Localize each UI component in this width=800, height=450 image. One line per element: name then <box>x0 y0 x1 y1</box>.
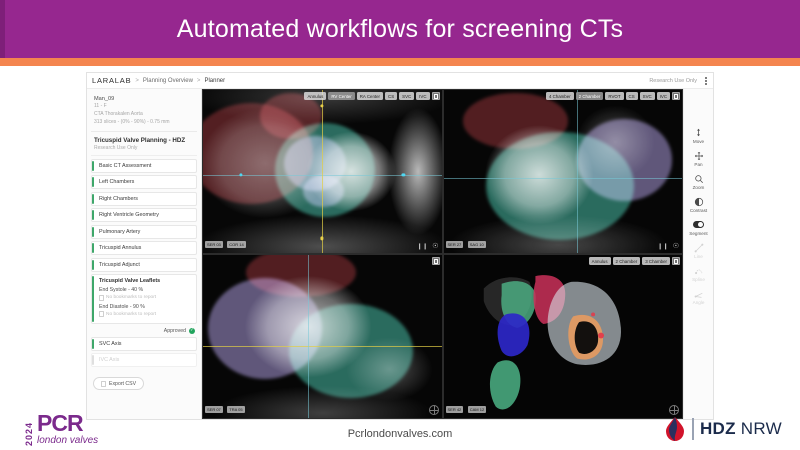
globe-icon[interactable] <box>669 405 679 415</box>
plan-title: Tricuspid Valve Planning - HDZ <box>94 137 194 144</box>
pan-icon <box>693 150 704 161</box>
app-body: Man_09 11 - F CTA Thorakalen Aorta 313 s… <box>87 89 713 419</box>
sidebar-item-basic-ct-assessment[interactable]: Basic CT Assessment <box>91 159 197 173</box>
check-circle-icon: ✓ <box>189 328 195 334</box>
viewport-tags-long-axis: SER 27 SAG 10 <box>446 233 486 251</box>
orientation-tag: COR 14 <box>227 241 245 247</box>
chip-ivc[interactable]: IVC <box>657 92 670 99</box>
breadcrumb-separator-1: > <box>135 78 139 84</box>
breadcrumb-separator-2: > <box>197 78 201 84</box>
brand-logo[interactable]: LARALAB <box>92 76 131 85</box>
tool-label: Pan <box>694 162 702 167</box>
move-icon <box>693 127 704 138</box>
viewport-controls-three-d <box>669 405 679 415</box>
chip-3-chamber[interactable]: 3 Chamber <box>642 257 670 264</box>
toggle-on-icon <box>693 219 704 230</box>
chip-ivc[interactable]: IVC <box>416 92 429 99</box>
hdz-divider <box>692 418 694 440</box>
crosshair-vertical[interactable] <box>322 90 323 253</box>
sidebar-item-ivc-axis[interactable]: IVC Axis <box>91 353 197 367</box>
layout-icon[interactable] <box>432 257 440 265</box>
chip-cs[interactable]: CS <box>385 92 397 99</box>
tool-label: Contrast <box>690 208 707 213</box>
tool-label: Move <box>693 139 704 144</box>
chip-rv-center[interactable]: RV Center <box>328 92 354 99</box>
banner-edge-accent <box>0 0 5 58</box>
layout-icon[interactable] <box>672 257 680 265</box>
series-tag: SER 07 <box>205 406 223 412</box>
viewport-controls-oblique <box>429 405 439 415</box>
plan-subtitle: Research Use Only <box>94 145 194 151</box>
accent-stripe <box>0 58 800 66</box>
application-window: LARALAB > Planning Overview > Planner Re… <box>86 72 714 420</box>
tool-spline[interactable]: Spline <box>684 265 713 282</box>
orientation-tag: SAG 10 <box>468 241 486 247</box>
export-csv-icon <box>101 381 106 387</box>
approved-status: Approved ✓ <box>91 327 197 337</box>
pause-icon[interactable]: ❙❙ <box>417 243 428 250</box>
crosshair-horizontal[interactable] <box>444 178 683 179</box>
chip-svc[interactable]: SVC <box>399 92 414 99</box>
tool-angle[interactable]: Angle <box>684 288 713 305</box>
tool-rail: Move Pan <box>683 89 713 419</box>
export-csv-button[interactable]: Export CSV <box>93 377 144 390</box>
tool-pan[interactable]: Pan <box>684 150 713 167</box>
sidebar-group-tricuspid-valve-leaflets[interactable]: Tricuspid Valve Leaflets End Systole - 4… <box>91 274 197 324</box>
three-d-render <box>444 255 683 418</box>
sidebar-item-right-ventricle-geometry[interactable]: Right Ventricle Geometry <box>91 208 197 222</box>
viewport-grid: Annulus RV Center RA Center CS SVC IVC S… <box>202 89 683 419</box>
chip-4-chamber[interactable]: 4 Chamber <box>546 92 574 99</box>
sidebar-item-tricuspid-annulus[interactable]: Tricuspid Annulus <box>91 241 197 255</box>
tool-label: Line <box>694 254 703 259</box>
phase-label: End Diastole - 90 % <box>99 304 192 310</box>
chip-ra-center[interactable]: RA Center <box>357 92 383 99</box>
line-icon <box>693 242 704 253</box>
tool-zoom[interactable]: Zoom <box>684 173 713 190</box>
status-badge: Approved <box>164 328 186 334</box>
zoom-icon <box>693 173 704 184</box>
viewport-tags-short-axis: SER 03 COR 14 <box>205 233 246 251</box>
workflow-steps: Basic CT Assessment Left Chambers Right … <box>91 156 197 419</box>
app-topbar: LARALAB > Planning Overview > Planner Re… <box>87 73 713 89</box>
research-use-only-label: Research Use Only <box>649 78 697 84</box>
viewport-tags-oblique: SER 07 TRA 05 <box>205 398 245 416</box>
sidebar-item-svc-axis[interactable]: SVC Axis <box>91 337 197 351</box>
spline-icon <box>693 265 704 276</box>
layout-icon[interactable] <box>432 92 440 100</box>
phase-note: No bookmarks to report <box>106 312 156 317</box>
viewport-tags-three-d: SER 42 CAM 12 <box>446 398 487 416</box>
document-icon <box>99 295 104 301</box>
tool-label: Angle <box>693 300 705 305</box>
slide-root: Automated workflows for screening CTs LA… <box>0 0 800 450</box>
phase-end-systole[interactable]: End Systole - 40 % No bookmarks to repor… <box>99 287 192 301</box>
hdz-bold: HDZ <box>700 419 736 438</box>
viewer-area: Annulus RV Center RA Center CS SVC IVC S… <box>202 89 713 419</box>
viewport-controls-long-axis: ❙❙ ☉ <box>658 243 679 250</box>
topbar-right-group: Research Use Only <box>649 73 709 89</box>
sidebar-item-left-chambers[interactable]: Left Chambers <box>91 175 197 189</box>
kebab-menu-icon[interactable] <box>703 75 709 87</box>
angle-icon <box>693 288 704 299</box>
hdz-rest: NRW <box>736 419 782 438</box>
tool-label: Segment <box>689 231 707 236</box>
orientation-tag: TRA 05 <box>227 406 244 412</box>
sidebar-item-right-chambers[interactable]: Right Chambers <box>91 192 197 206</box>
tool-label: Zoom <box>693 185 705 190</box>
sidebar: Man_09 11 - F CTA Thorakalen Aorta 313 s… <box>87 89 202 419</box>
phase-note: No bookmarks to report <box>106 295 156 300</box>
layout-icon[interactable] <box>672 92 680 100</box>
export-row: Export CSV <box>91 370 197 397</box>
patient-demographics: 11 - F <box>94 103 194 111</box>
group-title: Tricuspid Valve Leaflets <box>99 278 192 284</box>
sidebar-item-pulmonary-artery[interactable]: Pulmonary Artery <box>91 225 197 239</box>
three-d-model <box>444 255 683 418</box>
breadcrumb-planner[interactable]: Planner <box>204 78 225 84</box>
sidebar-item-tricuspid-adjunct[interactable]: Tricuspid Adjunct <box>91 258 197 272</box>
export-csv-label: Export CSV <box>109 381 136 387</box>
tool-move[interactable]: Move <box>684 127 713 144</box>
patient-info: Man_09 11 - F CTA Thorakalen Aorta 313 s… <box>91 93 197 132</box>
page-title: Automated workflows for screening CTs <box>177 15 623 44</box>
phase-note-row: No bookmarks to report <box>99 311 192 317</box>
overlay-leaflets-2 <box>303 175 344 208</box>
contrast-icon <box>693 196 704 207</box>
viewport-controls-short-axis: ❙❙ ☉ <box>417 243 438 250</box>
title-banner: Automated workflows for screening CTs <box>0 0 800 58</box>
viewport-three-d[interactable]: Annulus 2 Chamber 3 Chamber SER 42 CAM 1… <box>444 255 683 418</box>
chip-annulus[interactable]: Annulus <box>304 92 326 99</box>
tool-segment[interactable]: Segment <box>684 219 713 236</box>
viewport-chips-long-axis: 4 Chamber 2 Chamber RVOT CS SVC IVC <box>444 92 681 100</box>
crosshair-horizontal[interactable] <box>203 346 442 347</box>
tool-label: Spline <box>692 277 705 282</box>
crosshair-vertical[interactable] <box>577 90 578 253</box>
slide-footer: 2024 PCR london valves Pcrlondonvalves.c… <box>0 420 800 450</box>
patient-series-info: 313 slices - (0% - 90%) - 0.75 mm <box>94 119 194 127</box>
patient-study: CTA Thorakalen Aorta <box>94 111 194 119</box>
tool-line[interactable]: Line <box>684 242 713 259</box>
orientation-icon[interactable]: ☉ <box>432 243 438 250</box>
series-tag: SER 27 <box>446 241 464 247</box>
breadcrumb-planning-overview[interactable]: Planning Overview <box>143 78 193 84</box>
chip-annulus[interactable]: Annulus <box>589 257 611 264</box>
chip-rvot[interactable]: RVOT <box>605 92 623 99</box>
chip-svc[interactable]: SVC <box>640 92 655 99</box>
viewport-chips-oblique <box>203 257 440 265</box>
tool-contrast[interactable]: Contrast <box>684 196 713 213</box>
document-icon <box>99 311 104 317</box>
chip-2-chamber[interactable]: 2 Chamber <box>576 92 604 99</box>
hdz-logo: HDZ NRW <box>664 416 782 442</box>
chip-cs[interactable]: CS <box>626 92 638 99</box>
orientation-icon[interactable]: ☉ <box>673 243 679 250</box>
hdz-diamond-icon <box>664 416 686 442</box>
phase-label: End Systole - 40 % <box>99 287 192 293</box>
viewport-oblique[interactable]: SER 07 TRA 05 <box>203 255 442 418</box>
hdz-wordmark: HDZ NRW <box>700 419 782 439</box>
patient-name: Man_09 <box>94 95 194 103</box>
camera-tag: CAM 12 <box>468 406 486 412</box>
series-tag: SER 42 <box>446 406 464 412</box>
pause-icon[interactable]: ❙❙ <box>658 243 669 250</box>
globe-icon[interactable] <box>429 405 439 415</box>
crosshair-vertical[interactable] <box>308 255 309 418</box>
phase-end-diastole[interactable]: End Diastole - 90 % No bookmarks to repo… <box>99 304 192 318</box>
chip-2-chamber[interactable]: 2 Chamber <box>613 257 641 264</box>
viewport-long-axis[interactable]: 4 Chamber 2 Chamber RVOT CS SVC IVC SER … <box>444 90 683 253</box>
phase-note-row: No bookmarks to report <box>99 295 192 301</box>
viewport-chips-three-d: Annulus 2 Chamber 3 Chamber <box>444 257 681 265</box>
series-tag: SER 03 <box>205 241 223 247</box>
viewport-chips-short-axis: Annulus RV Center RA Center CS SVC IVC <box>203 92 440 100</box>
overlay-leaflets <box>577 119 672 201</box>
viewport-short-axis[interactable]: Annulus RV Center RA Center CS SVC IVC S… <box>203 90 442 253</box>
plan-header: Tricuspid Valve Planning - HDZ Research … <box>91 132 197 156</box>
